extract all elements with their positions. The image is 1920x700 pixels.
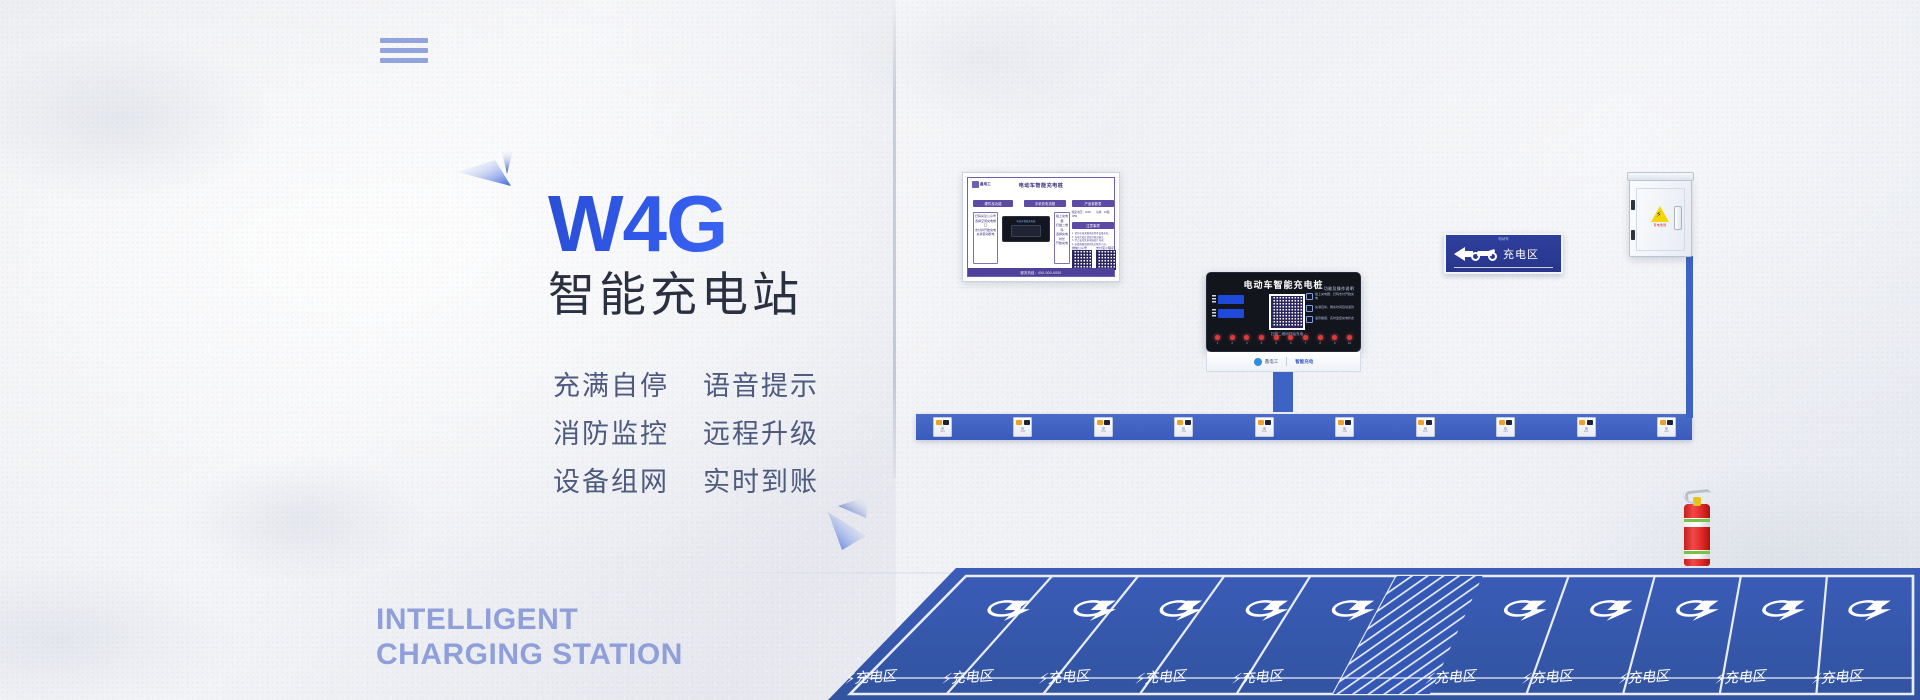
poster-section-left: 硬件及功能 [973, 200, 1013, 207]
pile-display-dots-1 [1212, 295, 1216, 304]
menu-bar-2 [380, 48, 428, 53]
charging-pile-panel[interactable]: 电动车智能充电桩 扫描二维码开始充电 功能及操作说明 插上充电器，扫码支付开始充… [1206, 272, 1361, 352]
pile-port-7[interactable]: 7 [1303, 335, 1308, 345]
pile-info-text-2: 充满自停，剩余时间自动退款 [1315, 306, 1354, 310]
poster-step-3: 选择充电时长 [1056, 232, 1068, 241]
socket-holes [934, 420, 951, 425]
poster-footer: 服务热线：400-000-0000 [968, 268, 1114, 276]
poster-flow-2: 选择空闲充电端口 [975, 219, 996, 228]
page-title: W4G [548, 186, 803, 262]
english-tagline: INTELLIGENT CHARGING STATION [376, 602, 683, 673]
poster-device-illustration: 电动车智能充电桩 [1002, 216, 1050, 242]
socket-outlet[interactable]: 10A [1255, 417, 1274, 437]
pile-port-9[interactable]: 9 [1332, 335, 1337, 345]
info-icon-2 [1306, 305, 1313, 312]
port-number: 10 [1347, 341, 1352, 345]
poster-step-2: 扫描二维码 [1056, 223, 1068, 232]
sign-label: 充电区 [1503, 246, 1539, 262]
menu-bar-3 [380, 58, 428, 63]
socket-outlet[interactable]: 10A [1174, 417, 1193, 437]
socket-outlet[interactable]: 10A [1416, 417, 1435, 437]
feature-item-5: 设备组网 [553, 460, 669, 499]
port-led-icon [1230, 335, 1235, 340]
port-led-icon [1303, 335, 1308, 340]
poster-logo: 鑫电工 [972, 181, 991, 188]
socket-holes [1658, 420, 1675, 425]
pile-info-text-1: 插上充电器，扫码支付开始充电 [1315, 293, 1354, 301]
feature-item-6: 实时到账 [703, 460, 819, 499]
page-subtitle: 智能充电站 [548, 268, 803, 324]
sign-underline [1454, 267, 1553, 269]
socket-holes [1336, 420, 1353, 425]
poster-section-mid: 手机充电流程 [1024, 200, 1066, 207]
port-led-icon [1332, 335, 1337, 340]
port-led-icon [1318, 335, 1323, 340]
cabinet-warning-text: 有电危险 [1650, 223, 1670, 227]
socket-label: 10A [1256, 430, 1273, 433]
pile-port-indicators: 12345678910 [1215, 335, 1352, 345]
socket-holes [1014, 420, 1031, 425]
port-number: 3 [1244, 341, 1249, 345]
socket-label: 10A [1175, 430, 1192, 433]
brand-divider [1286, 357, 1287, 366]
pile-qr-code[interactable] [1269, 294, 1305, 330]
pile-port-1[interactable]: 1 [1215, 335, 1220, 345]
socket-outlet[interactable]: 10A [1577, 417, 1596, 437]
poster-device-title: 电动车智能充电桩 [1003, 219, 1049, 223]
pile-port-8[interactable]: 8 [1318, 335, 1323, 345]
pile-display-2 [1218, 309, 1244, 318]
poster-step-1: 插上充电器 [1056, 214, 1068, 223]
cabinet-hinge-top [1631, 200, 1635, 210]
banner-root: W4G 智能充电站 充满自停 语音提示 消防监控 远程升级 设备组网 实时到账 … [0, 0, 1920, 700]
left-arrow-icon [1454, 247, 1465, 261]
feature-item-1: 充满自停 [553, 364, 669, 403]
poster-section-right2: 注意事项 [1072, 222, 1114, 229]
port-number: 6 [1288, 341, 1293, 345]
feature-item-4: 远程升级 [703, 412, 819, 451]
cabinet-handle[interactable] [1674, 206, 1682, 230]
headline-block: W4G 智能充电站 [548, 186, 803, 324]
socket-rail: 10A10A10A10A10A10A10A10A10A10A [916, 414, 1692, 440]
cabinet-hinge-bottom [1631, 230, 1635, 240]
info-icon-1 [1306, 293, 1313, 300]
pile-port-5[interactable]: 5 [1274, 335, 1279, 345]
poster-section-right: 产品参数表 [1072, 200, 1114, 207]
poster-qr1-label: 微信公众号 [1072, 246, 1087, 250]
socket-label: 10A [1014, 430, 1031, 433]
poster-title: 电动车智能充电桩 [1019, 182, 1064, 189]
port-number: 4 [1259, 341, 1264, 345]
pile-info-row-3: 语音播报，实时监控充电状态 [1306, 316, 1354, 323]
poster-params: 额定电压：220V 功率：10路 IP54 [1072, 211, 1116, 218]
socket-outlet[interactable]: 10A [1657, 417, 1676, 437]
poster-qr-alipay[interactable] [1096, 250, 1116, 270]
wall-corner-line [893, 0, 896, 478]
parking-lot: ⚡充电区⚡充电区⚡充电区⚡充电区⚡充电区⚡充电区⚡充电区⚡充电区⚡充电区⚡充电区 [700, 568, 1920, 700]
scooter-icon [1471, 247, 1497, 261]
menu-bar-1 [380, 38, 428, 43]
pile-port-10[interactable]: 10 [1347, 335, 1352, 345]
wall-poster[interactable]: 鑫电工 电动车智能充电桩 硬件及功能 手机充电流程 产品参数表 注意事项 额定电… [962, 172, 1120, 282]
poster-flow-1: 扫码关注公众号 [975, 214, 996, 219]
parking-lot-svg: ⚡充电区⚡充电区⚡充电区⚡充电区⚡充电区⚡充电区⚡充电区⚡充电区⚡充电区⚡充电区 [700, 568, 1920, 700]
poster-qr-wechat[interactable] [1072, 250, 1092, 270]
feature-list: 充满自停 语音提示 消防监控 远程升级 设备组网 实时到账 [553, 364, 819, 499]
menu-icon[interactable] [380, 38, 428, 63]
decor-triangle-group-top [455, 144, 535, 214]
pile-info-row-1: 插上充电器，扫码支付开始充电 [1306, 293, 1354, 301]
pile-port-3[interactable]: 3 [1244, 335, 1249, 345]
pile-display-1 [1218, 295, 1244, 304]
port-number: 1 [1215, 341, 1220, 345]
socket-outlet[interactable]: 10A [1496, 417, 1515, 437]
port-number: 9 [1332, 341, 1337, 345]
port-led-icon [1259, 335, 1264, 340]
feature-item-3: 消防监控 [553, 412, 669, 451]
socket-holes [1256, 420, 1273, 425]
port-number: 5 [1274, 341, 1279, 345]
port-led-icon [1288, 335, 1293, 340]
poster-steps-column: 插上充电器 扫描二维码 选择充电时长 开始充电 [1054, 212, 1070, 264]
high-voltage-icon: 有电危险 [1650, 206, 1670, 227]
pile-brand: 鑫电工 [1254, 358, 1279, 366]
socket-outlet[interactable]: 10A [1094, 417, 1113, 437]
poster-logo-text: 鑫电工 [980, 182, 991, 187]
port-led-icon [1215, 335, 1220, 340]
poster-flow-column: 扫码关注公众号 选择空闲充电端口 支付并开始充电 充满自动断电 [973, 212, 998, 264]
socket-outlet[interactable]: 10A [933, 417, 952, 437]
socket-label: 10A [1497, 430, 1514, 433]
socket-holes [1095, 420, 1112, 425]
english-line-2: CHARGING STATION [376, 637, 683, 672]
socket-holes [1417, 420, 1434, 425]
power-conduit [1686, 256, 1693, 418]
socket-label: 10A [1095, 430, 1112, 433]
socket-holes [1497, 420, 1514, 425]
brand-icon [1254, 358, 1262, 366]
poster-logo-icon [972, 181, 979, 188]
english-line-1: INTELLIGENT [376, 602, 683, 637]
cabinet-top-cap [1627, 172, 1694, 181]
port-led-icon [1347, 335, 1352, 340]
direction-sign[interactable]: 电动车 充电区 [1444, 233, 1563, 274]
pile-port-2[interactable]: 2 [1230, 335, 1235, 345]
pile-title: 电动车智能充电桩 [1243, 278, 1323, 291]
poster-qr2-label: 支付宝小程序 [1096, 246, 1114, 250]
pile-port-6[interactable]: 6 [1288, 335, 1293, 345]
socket-label: 10A [1658, 430, 1675, 433]
poster-flow-4: 充满自动断电 [975, 232, 996, 237]
port-number: 7 [1303, 341, 1308, 345]
socket-holes [1578, 420, 1595, 425]
poster-step-4: 开始充电 [1056, 241, 1068, 246]
pile-port-4[interactable]: 4 [1259, 335, 1264, 345]
socket-label: 10A [934, 430, 951, 433]
pile-display-dots-2 [1212, 309, 1216, 318]
sign-small-caption: 电动车 [1498, 237, 1509, 242]
socket-label: 10A [1578, 430, 1595, 433]
pile-base-brandbar: 鑫电工 智能充电 [1206, 352, 1361, 372]
socket-label: 10A [1417, 430, 1434, 433]
pile-brand-text: 鑫电工 [1265, 359, 1279, 365]
poster-inner: 鑫电工 电动车智能充电桩 硬件及功能 手机充电流程 产品参数表 注意事项 额定电… [967, 177, 1115, 277]
port-number: 8 [1318, 341, 1323, 345]
socket-holes [1175, 420, 1192, 425]
socket-label: 10A [1336, 430, 1353, 433]
socket-outlet[interactable]: 10A [1335, 417, 1354, 437]
pile-info-list: 插上充电器，扫码支付开始充电 充满自停，剩余时间自动退款 语音播报，实时监控充电… [1306, 293, 1354, 327]
decor-triangle-group-bottom [822, 492, 902, 562]
port-led-icon [1274, 335, 1279, 340]
electrical-cabinet[interactable]: 有电危险 [1629, 177, 1692, 257]
pile-info-row-2: 充满自停，剩余时间自动退款 [1306, 305, 1354, 312]
fire-extinguisher-icon [1680, 488, 1714, 566]
poster-notes: 1. 请勿在雨天露天使用本设备充电； 2. 充电完成后请及时拔出插头； 3. 禁… [1072, 232, 1116, 246]
pile-base-badge: 智能充电 [1295, 359, 1313, 365]
port-number: 2 [1230, 341, 1235, 345]
pile-info-text-3: 语音播报，实时监控充电状态 [1315, 317, 1354, 321]
poster-device-screen [1011, 225, 1041, 237]
port-led-icon [1244, 335, 1249, 340]
info-icon-3 [1306, 316, 1313, 323]
feature-item-2: 语音提示 [703, 364, 819, 403]
socket-outlet[interactable]: 10A [1013, 417, 1032, 437]
